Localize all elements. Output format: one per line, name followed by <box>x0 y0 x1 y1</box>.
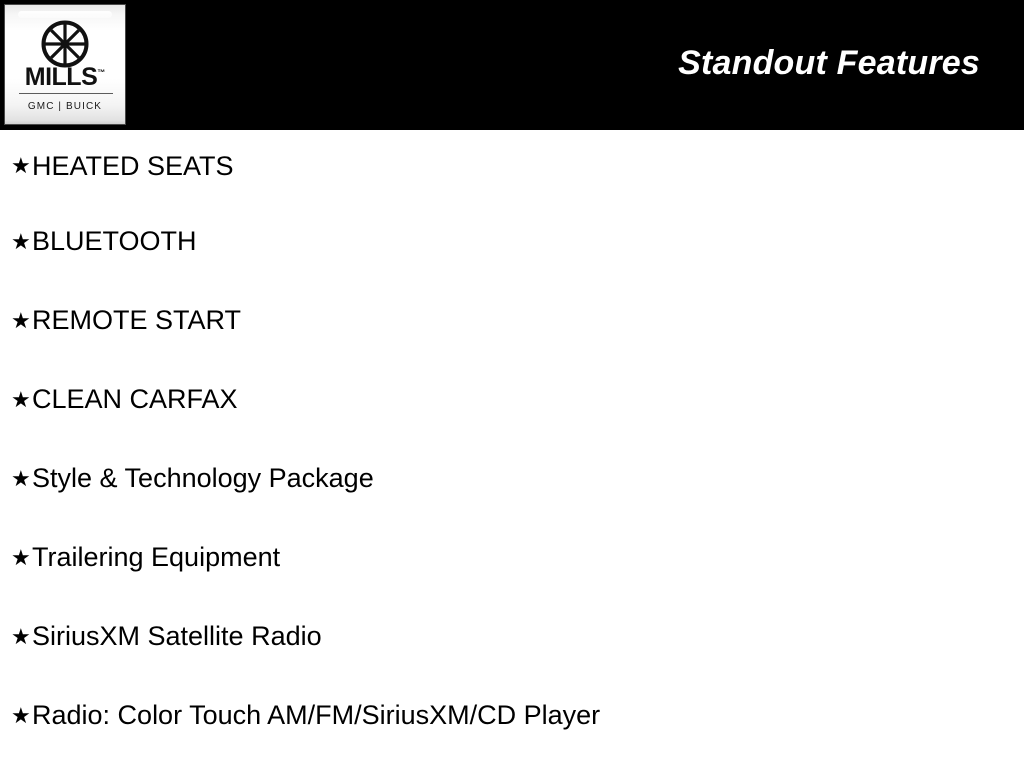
feature-label: Style & Technology Package <box>32 464 374 492</box>
list-item: ★ REMOTE START <box>0 281 1024 360</box>
star-icon: ★ <box>0 626 32 648</box>
feature-label: BLUETOOTH <box>32 227 197 255</box>
list-item: ★ BLUETOOTH <box>0 202 1024 281</box>
page-header: Standout Features <box>0 0 1024 130</box>
feature-label: CLEAN CARFAX <box>32 385 238 413</box>
feature-label: Trailering Equipment <box>32 543 280 571</box>
star-icon: ★ <box>0 468 32 490</box>
list-item: ★ Radio: Color Touch AM/FM/SiriusXM/CD P… <box>0 676 1024 755</box>
list-item: ★ SiriusXM Satellite Radio <box>0 597 1024 676</box>
star-icon: ★ <box>0 547 32 569</box>
list-item: ★ Trailering Equipment <box>0 518 1024 597</box>
dealer-logo[interactable]: MILLS™ GMC | BUICK <box>4 4 126 125</box>
star-icon: ★ <box>0 231 32 253</box>
star-icon: ★ <box>0 155 32 177</box>
list-item: ★ Style & Technology Package <box>0 439 1024 518</box>
list-item: ★ HEATED SEATS <box>0 130 1024 202</box>
logo-brand-subtitle: GMC | BUICK <box>5 102 125 112</box>
feature-label: Radio: Color Touch AM/FM/SiriusXM/CD Pla… <box>32 701 600 729</box>
feature-label: HEATED SEATS <box>32 152 234 180</box>
wagon-wheel-icon <box>40 19 90 69</box>
standout-features-list: ★ HEATED SEATS ★ BLUETOOTH ★ REMOTE STAR… <box>0 130 1024 755</box>
star-icon: ★ <box>0 310 32 332</box>
star-icon: ★ <box>0 389 32 411</box>
feature-label: SiriusXM Satellite Radio <box>32 622 322 650</box>
logo-gloss-highlight <box>18 11 112 18</box>
feature-label: REMOTE START <box>32 306 241 334</box>
logo-divider <box>19 93 113 94</box>
star-icon: ★ <box>0 705 32 727</box>
logo-wordmark-text: MILLS <box>25 63 98 91</box>
logo-wordmark: MILLS™ <box>5 65 125 90</box>
page-title: Standout Features <box>678 46 980 80</box>
logo-trademark-mark: ™ <box>97 68 105 77</box>
list-item: ★ CLEAN CARFAX <box>0 360 1024 439</box>
